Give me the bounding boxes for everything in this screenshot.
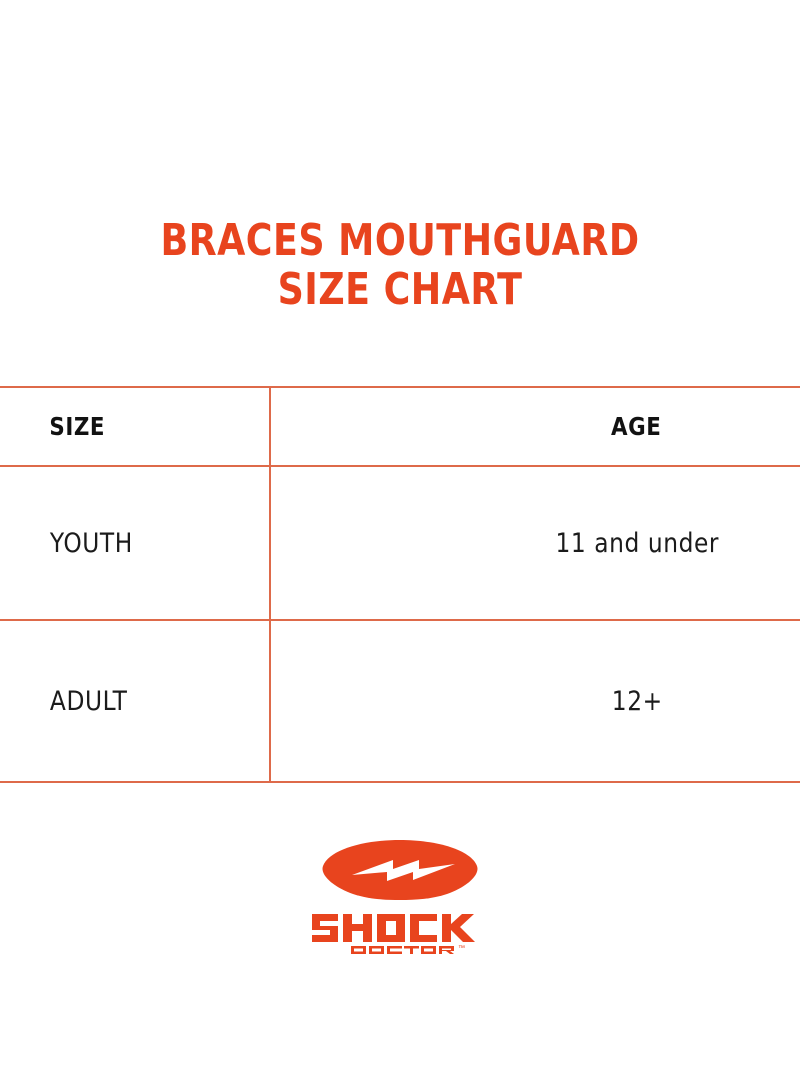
shock-doctor-bolt-icon	[319, 838, 481, 902]
column-header-age-label: AGE	[284, 412, 787, 441]
column-header-size: SIZE	[0, 387, 270, 466]
table-row: ADULT 12+	[0, 620, 800, 782]
table-header-row: SIZE AGE	[0, 387, 800, 466]
size-chart-table: SIZE AGE YOUTH 11 and under ADULT	[0, 386, 800, 783]
cell-size-adult: ADULT	[0, 620, 270, 782]
cell-size-youth-label: YOUTH	[0, 528, 258, 559]
cell-age-adult-label: 12+	[282, 686, 790, 717]
cell-age-adult: 12+	[270, 620, 800, 782]
cell-age-youth: 11 and under	[270, 466, 800, 620]
table-row: YOUTH 11 and under	[0, 466, 800, 620]
cell-size-youth: YOUTH	[0, 466, 270, 620]
page-title-line-1: BRACES MOUTHGUARD	[32, 216, 768, 265]
brand-logo: ™	[0, 838, 800, 954]
page-title: BRACES MOUTHGUARD SIZE CHART	[0, 216, 800, 314]
trademark-symbol: ™	[458, 945, 465, 952]
shock-doctor-wordmark: ™	[310, 908, 490, 954]
column-header-age: AGE	[270, 387, 800, 466]
size-chart-page: BRACES MOUTHGUARD SIZE CHART SIZE AGE YO…	[0, 0, 800, 1091]
cell-size-adult-label: ADULT	[0, 686, 258, 717]
page-title-line-2: SIZE CHART	[32, 265, 768, 314]
cell-age-youth-label: 11 and under	[282, 528, 790, 559]
column-header-size-label: SIZE	[0, 412, 256, 441]
